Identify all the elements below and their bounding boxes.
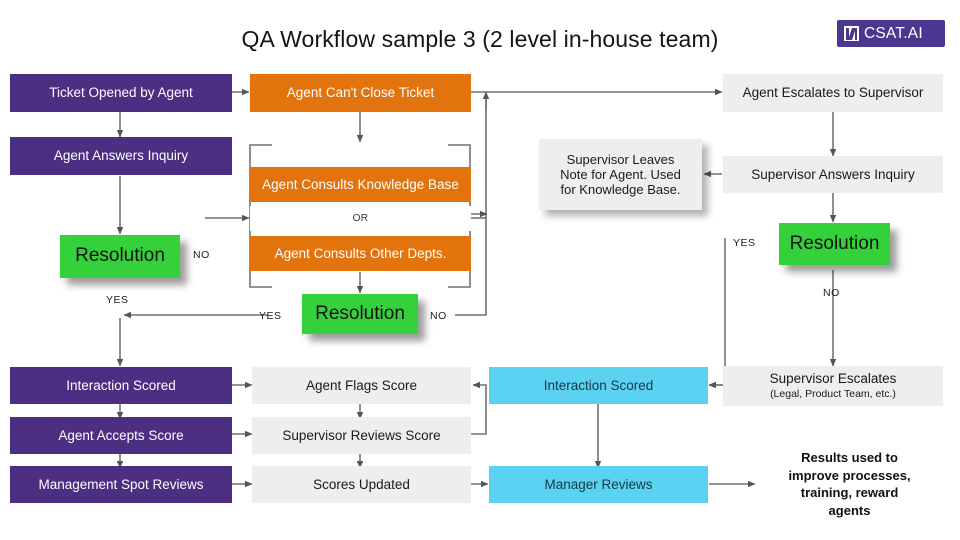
node-label: Interaction Scored bbox=[66, 378, 176, 394]
edge-label-no-mid: NO bbox=[430, 310, 447, 322]
node-sublabel: (Legal, Product Team, etc.) bbox=[770, 388, 896, 400]
results-line: agents bbox=[762, 502, 937, 520]
csat-square-icon bbox=[844, 26, 859, 41]
node-resolution-left[interactable]: Resolution bbox=[60, 235, 180, 278]
note-line: for Knowledge Base. bbox=[561, 182, 681, 197]
edge-label-yes-mid: YES bbox=[259, 310, 282, 322]
node-label: Agent Escalates to Supervisor bbox=[743, 85, 924, 101]
node-supervisor-leaves-note[interactable]: Supervisor Leaves Note for Agent. Used f… bbox=[539, 139, 702, 210]
node-supervisor-answers-inquiry[interactable]: Supervisor Answers Inquiry bbox=[723, 156, 943, 193]
node-interaction-scored-left[interactable]: Interaction Scored bbox=[10, 367, 232, 404]
node-label: Scores Updated bbox=[313, 477, 410, 493]
edge-label-no-right: NO bbox=[823, 287, 840, 299]
node-agent-flags-score[interactable]: Agent Flags Score bbox=[252, 367, 471, 404]
node-label: Supervisor Answers Inquiry bbox=[751, 167, 915, 183]
node-agent-consults-other-depts[interactable]: Agent Consults Other Depts. bbox=[250, 236, 471, 271]
node-agent-consults-knowledge-base[interactable]: Agent Consults Knowledge Base bbox=[250, 167, 471, 202]
node-or-divider: OR bbox=[250, 206, 471, 231]
node-label: Agent Consults Knowledge Base bbox=[262, 177, 459, 193]
node-label: Interaction Scored bbox=[544, 378, 654, 394]
node-label: Supervisor Reviews Score bbox=[282, 428, 440, 444]
node-label: Supervisor Escalates bbox=[770, 371, 897, 387]
node-resolution-right[interactable]: Resolution bbox=[779, 223, 890, 265]
node-label: Agent Answers Inquiry bbox=[54, 148, 188, 164]
node-agent-escalates-to-supervisor[interactable]: Agent Escalates to Supervisor bbox=[723, 74, 943, 112]
node-label: Manager Reviews bbox=[544, 477, 652, 493]
results-line: improve processes, bbox=[762, 467, 937, 485]
edge-label-yes-right: YES bbox=[733, 237, 756, 249]
edge-label-yes-left: YES bbox=[106, 294, 129, 306]
node-label: Agent Flags Score bbox=[306, 378, 417, 394]
node-label: Agent Accepts Score bbox=[58, 428, 183, 444]
node-label: Ticket Opened by Agent bbox=[49, 85, 193, 101]
node-supervisor-escalates[interactable]: Supervisor Escalates (Legal, Product Tea… bbox=[723, 366, 943, 406]
results-line: Results used to bbox=[762, 449, 937, 467]
node-label: Resolution bbox=[75, 245, 165, 267]
node-agent-accepts-score[interactable]: Agent Accepts Score bbox=[10, 417, 232, 454]
node-supervisor-reviews-score[interactable]: Supervisor Reviews Score bbox=[252, 417, 471, 454]
node-ticket-opened[interactable]: Ticket Opened by Agent bbox=[10, 74, 232, 112]
node-manager-reviews[interactable]: Manager Reviews bbox=[489, 466, 708, 503]
node-agent-answers-inquiry[interactable]: Agent Answers Inquiry bbox=[10, 137, 232, 175]
edge-label-no-left: NO bbox=[193, 249, 210, 261]
results-line: training, reward bbox=[762, 484, 937, 502]
page-title: QA Workflow sample 3 (2 level in-house t… bbox=[200, 26, 760, 53]
node-label: Resolution bbox=[790, 233, 880, 255]
node-label: Management Spot Reviews bbox=[38, 477, 203, 493]
node-label: Agent Consults Other Depts. bbox=[275, 246, 447, 262]
note-line: Supervisor Leaves bbox=[567, 152, 675, 167]
logo-text: CSAT.AI bbox=[864, 25, 923, 43]
node-agent-cant-close-ticket[interactable]: Agent Can't Close Ticket bbox=[250, 74, 471, 112]
node-label: Agent Can't Close Ticket bbox=[287, 85, 434, 101]
node-label: Resolution bbox=[315, 303, 405, 325]
diagram-canvas: QA Workflow sample 3 (2 level in-house t… bbox=[0, 0, 960, 540]
node-interaction-scored-right[interactable]: Interaction Scored bbox=[489, 367, 708, 404]
results-note: Results used to improve processes, train… bbox=[762, 449, 937, 519]
node-management-spot-reviews[interactable]: Management Spot Reviews bbox=[10, 466, 232, 503]
note-line: Note for Agent. Used bbox=[560, 167, 681, 182]
csat-ai-logo: CSAT.AI bbox=[837, 20, 945, 47]
or-label: OR bbox=[353, 213, 369, 225]
node-resolution-mid[interactable]: Resolution bbox=[302, 294, 418, 334]
node-scores-updated[interactable]: Scores Updated bbox=[252, 466, 471, 503]
